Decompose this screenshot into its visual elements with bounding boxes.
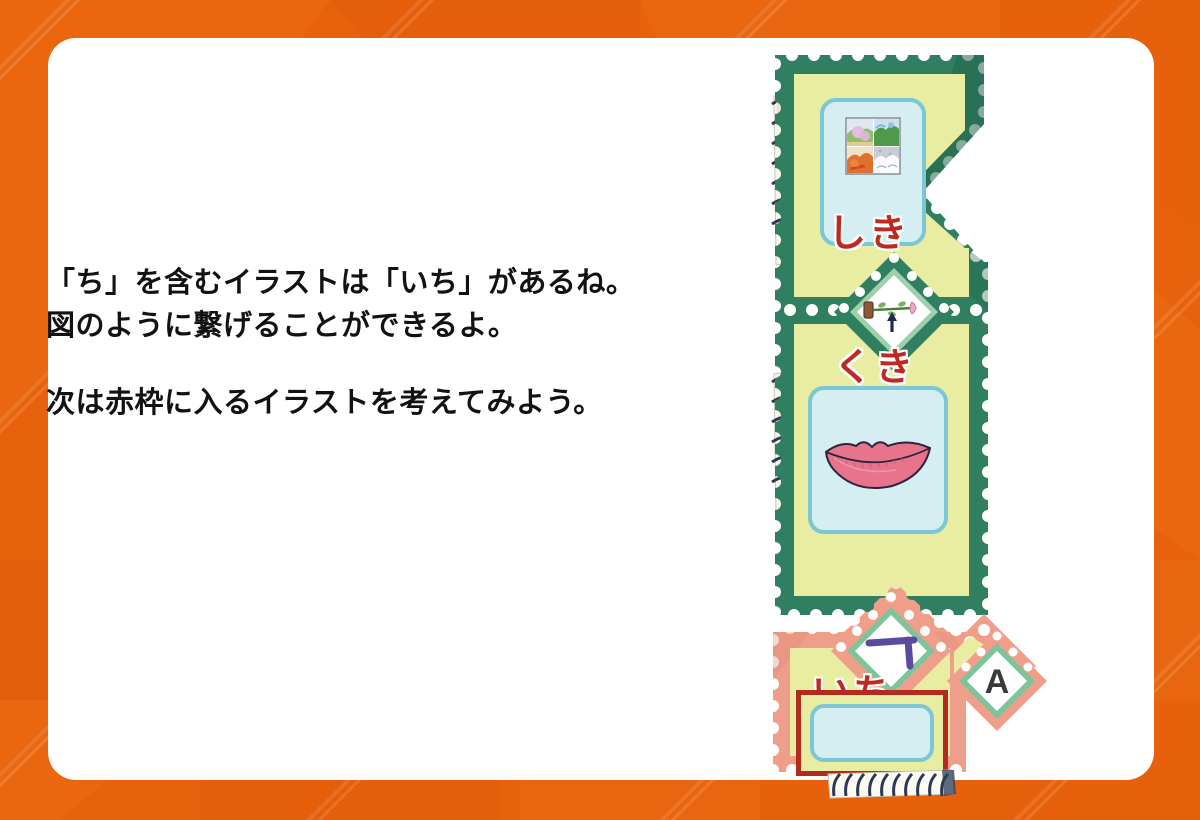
letter-a-icon: A	[985, 663, 1010, 701]
instruction-line-1: 「ち」を含むイラストは「いち」があるね。	[46, 262, 726, 305]
lips-mouth-icon	[812, 418, 944, 508]
diamond-letter-a[interactable]: A	[944, 628, 1050, 734]
answer-slot-frame[interactable]	[796, 690, 948, 776]
instruction-text-block: 「ち」を含むイラストは「いち」があるね。 図のように繋げることができるよ。 次は…	[46, 262, 726, 425]
notebook-spiral-bottom-icon	[826, 768, 956, 802]
word-chain-diagram: しき くき	[762, 52, 1052, 772]
instruction-line-2: 図のように繋げることができるよ。	[46, 305, 726, 348]
label-kuki: くき	[834, 336, 916, 391]
four-seasons-landscape-icon	[824, 116, 922, 206]
instruction-line-3: 次は赤枠に入るイラストを考えてみよう。	[46, 382, 726, 425]
card-kuchi[interactable]	[808, 386, 948, 534]
screen-root: 「ち」を含むイラストは「いち」があるね。 図のように繋げることができるよ。 次は…	[0, 0, 1200, 820]
text-spacer	[46, 348, 726, 382]
answer-slot-empty-card[interactable]	[810, 704, 934, 762]
